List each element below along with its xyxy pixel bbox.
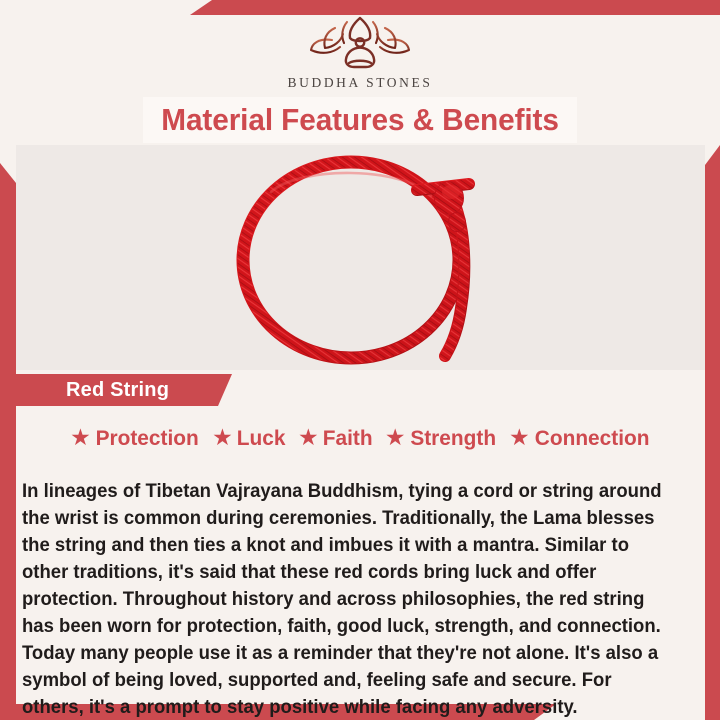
brand-header: BUDDHA STONES — [0, 14, 720, 91]
benefit-label: Protection — [95, 426, 198, 451]
star-icon: ★ — [298, 426, 319, 449]
product-name-label: Red String — [66, 379, 169, 402]
page-title: Material Features & Benefits — [161, 102, 559, 138]
benefit-label: Luck — [237, 426, 286, 451]
star-icon: ★ — [212, 426, 233, 449]
decor-top-red-bar — [190, 0, 720, 15]
title-banner: Material Features & Benefits — [143, 97, 577, 143]
benefits-list: ★ Protection ★ Luck ★ Faith ★ Strength ★… — [16, 418, 705, 458]
lotus-meditation-icon — [302, 14, 418, 72]
benefit-item: ★ Luck — [208, 426, 290, 451]
benefit-item: ★ Strength — [381, 426, 501, 451]
star-icon: ★ — [509, 426, 530, 449]
star-icon: ★ — [70, 426, 91, 449]
product-name-ribbon: Red String — [16, 374, 232, 406]
infographic-card: BUDDHA STONES Material Features & Benefi… — [0, 0, 720, 720]
benefit-item: ★ Protection — [66, 426, 204, 451]
benefit-label: Connection — [534, 426, 649, 451]
brand-name: BUDDHA STONES — [0, 75, 720, 91]
description-text: In lineages of Tibetan Vajrayana Buddhis… — [22, 478, 669, 720]
star-icon: ★ — [385, 426, 406, 449]
benefit-label: Strength — [410, 426, 496, 451]
red-string-bracelet-image — [211, 150, 511, 365]
benefit-item: ★ Faith — [294, 426, 377, 451]
product-photo — [16, 145, 705, 370]
benefit-item: ★ Connection — [505, 426, 655, 451]
decor-right-red-bar — [705, 145, 720, 720]
decor-left-red-bar — [0, 163, 16, 705]
benefit-label: Faith — [322, 426, 372, 451]
